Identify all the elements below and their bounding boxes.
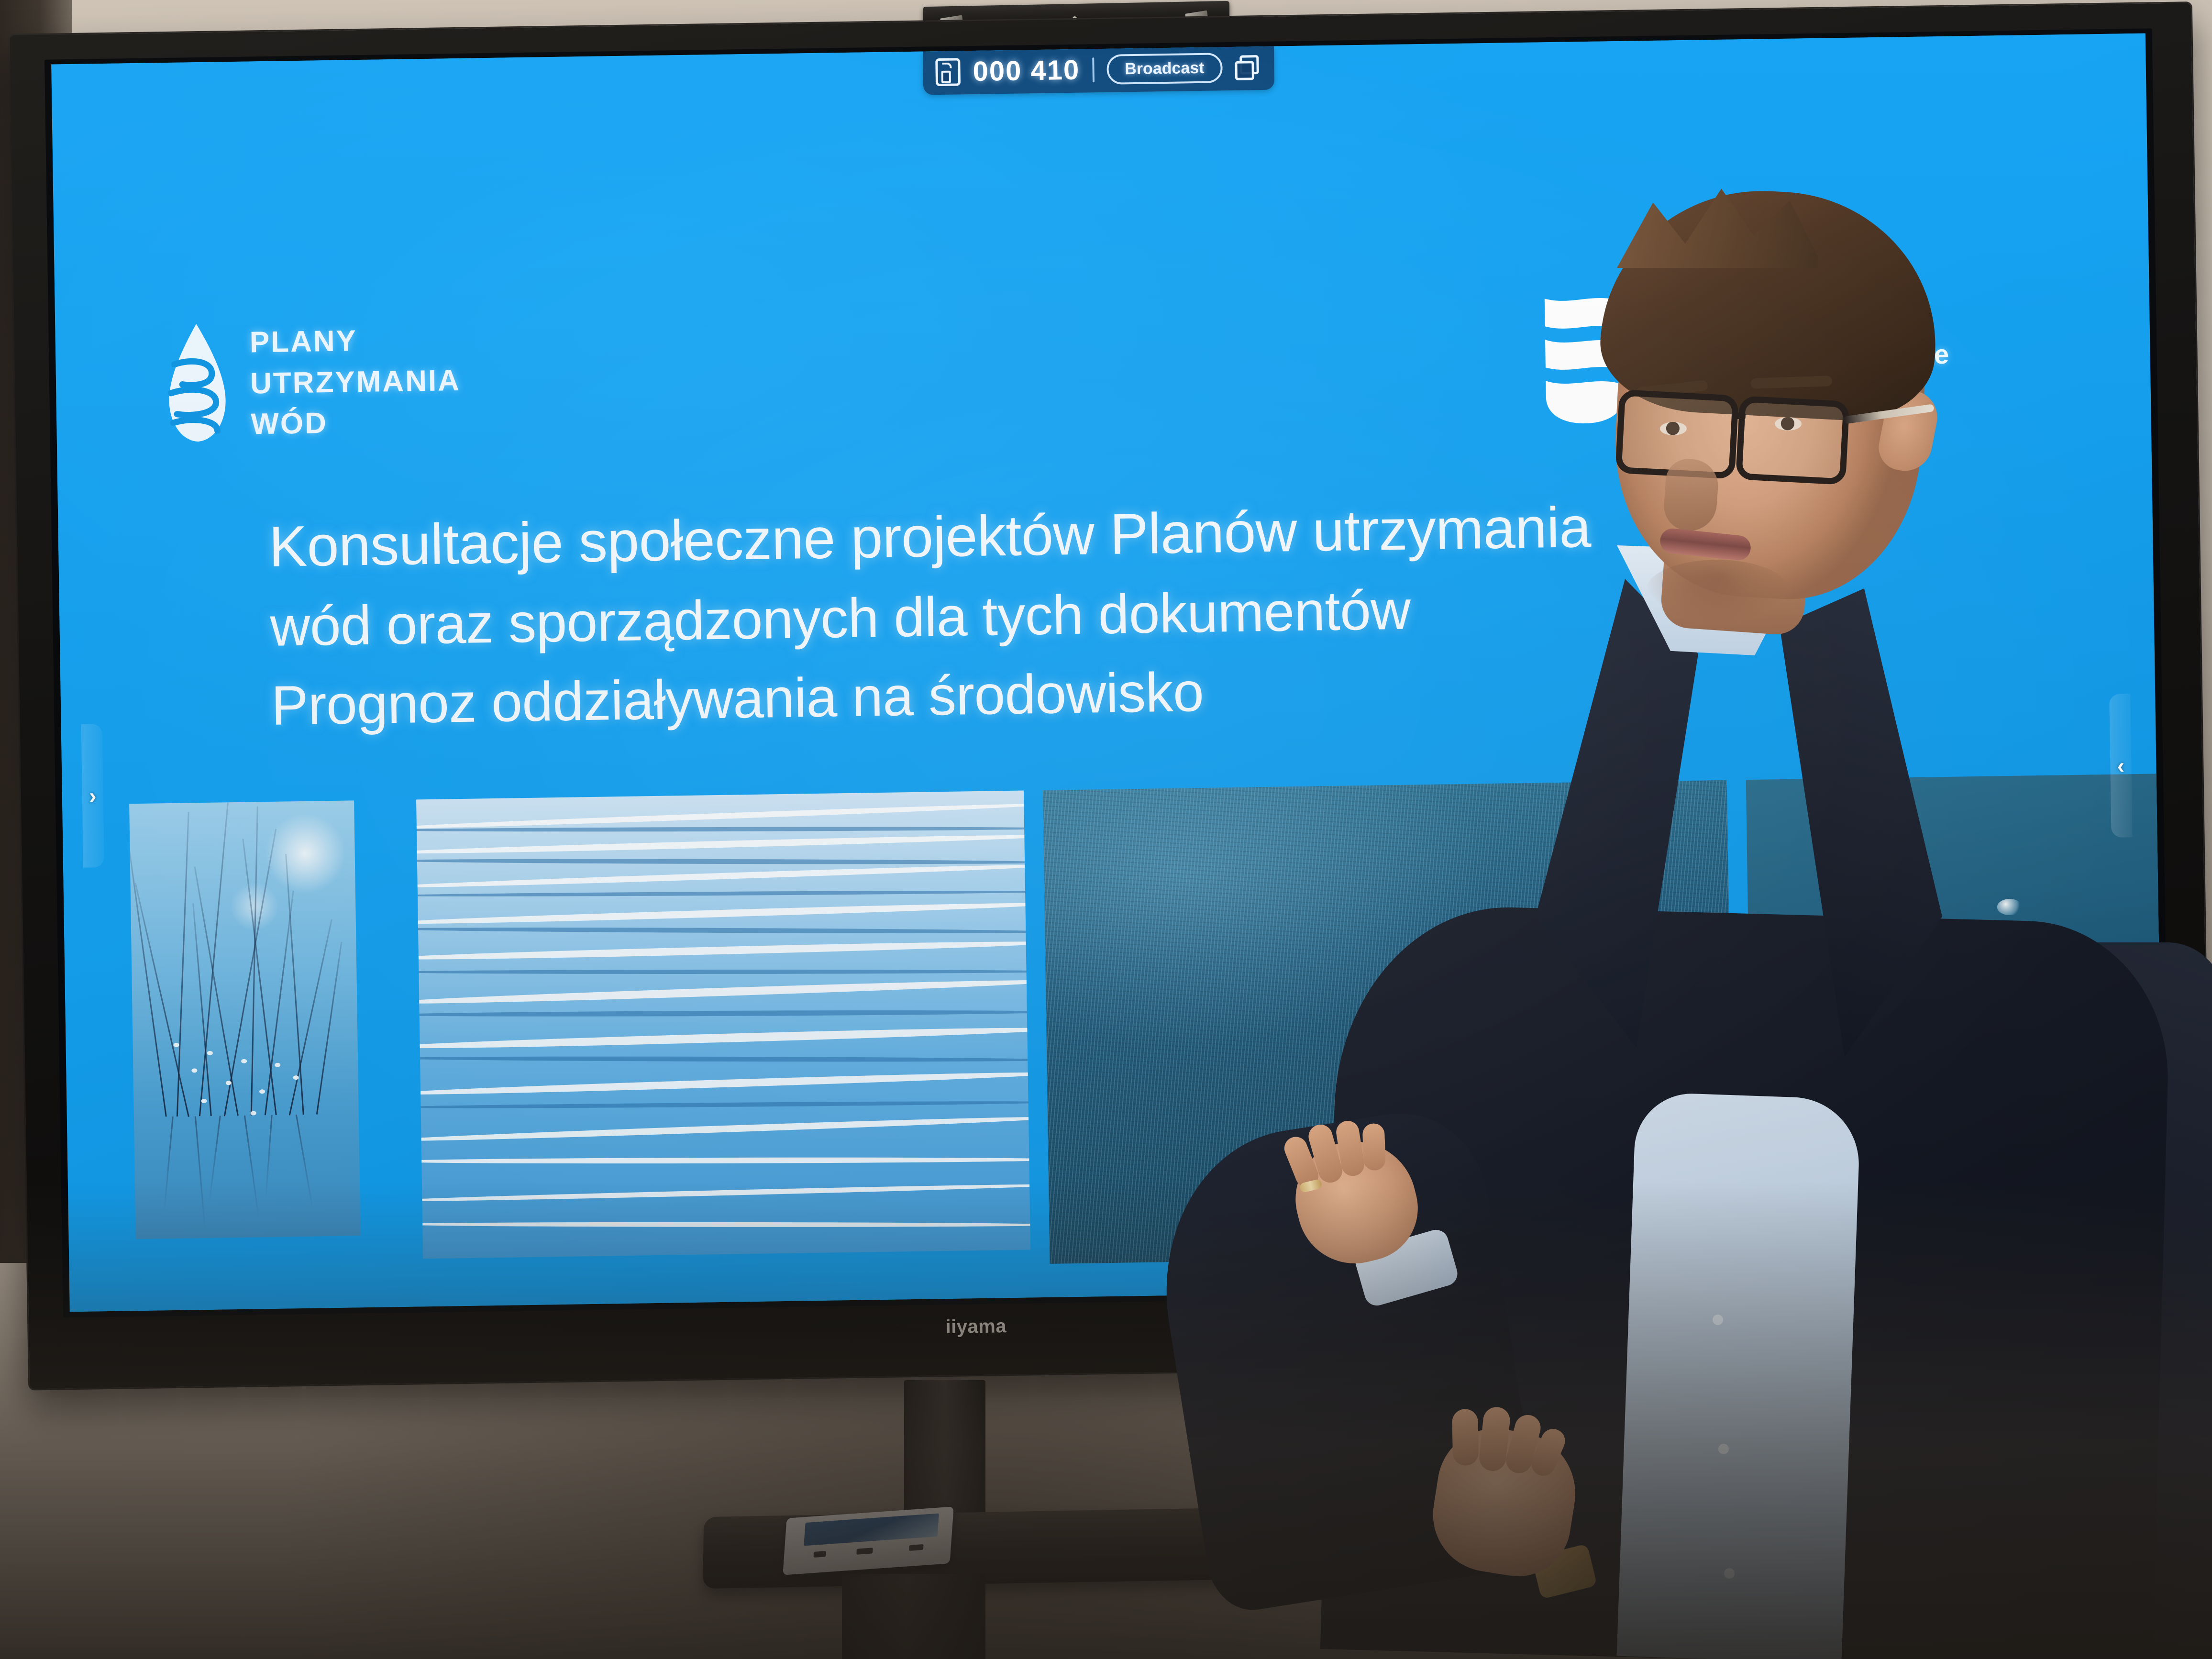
control-panel-screen [804, 1514, 939, 1546]
room-control-panel[interactable] [783, 1506, 953, 1575]
display-stand-column [842, 1574, 985, 1659]
screen-share-hud[interactable]: 000 410 Broadcast [923, 46, 1274, 95]
logo-right-line2: Gospodarstwo Wodne [1661, 337, 1949, 376]
screen-cast-icon [935, 58, 961, 86]
left-edge-tab[interactable]: › [81, 724, 104, 868]
hud-divider [1092, 57, 1095, 82]
logo-left-line3: WÓD [251, 401, 462, 445]
session-code: 000 410 [973, 56, 1080, 85]
logo-left-line1: PLANY [249, 319, 460, 363]
reeds-in-water-photo [129, 800, 360, 1239]
slide-photo-strip [62, 774, 2164, 1312]
right-edge-tab[interactable]: ‹ [2109, 694, 2132, 838]
meeting-room-scene: iiyama PLANY UTRZ [0, 0, 2212, 1659]
water-drop-leaf-icon [165, 322, 229, 443]
display-brand-label: iiyama [945, 1316, 1006, 1338]
wristwatch [1531, 1544, 1597, 1599]
wody-polskie-logo: Państwowe Gospodarstwo Wodne Wody Polski… [1541, 290, 1950, 425]
plany-utrzymania-wod-logo: PLANY UTRZYMANIA WÓD [165, 319, 462, 446]
presentation-slide: PLANY UTRZYMANIA WÓD [51, 33, 2164, 1312]
right-hand [1425, 1420, 1584, 1584]
rippled-water-photo [416, 791, 1030, 1259]
logo-right-line3: Wody Polskie [1661, 372, 1950, 412]
broadcast-button[interactable]: Broadcast [1106, 53, 1223, 85]
interactive-display[interactable]: iiyama PLANY UTRZ [10, 3, 2211, 1389]
slide-title: Konsultacje społeczne projektów Planów u… [268, 481, 1946, 745]
display-panel[interactable]: PLANY UTRZYMANIA WÓD [51, 33, 2164, 1312]
logo-right-line1: Państwowe [1660, 301, 1949, 341]
logo-left-line2: UTRZYMANIA [250, 360, 461, 404]
dark-water-texture-photo [1043, 780, 1734, 1264]
bubbles-water-photo [1746, 774, 2164, 1253]
wavy-shield-icon [1541, 294, 1639, 425]
copy-windows-icon[interactable] [1235, 55, 1260, 80]
